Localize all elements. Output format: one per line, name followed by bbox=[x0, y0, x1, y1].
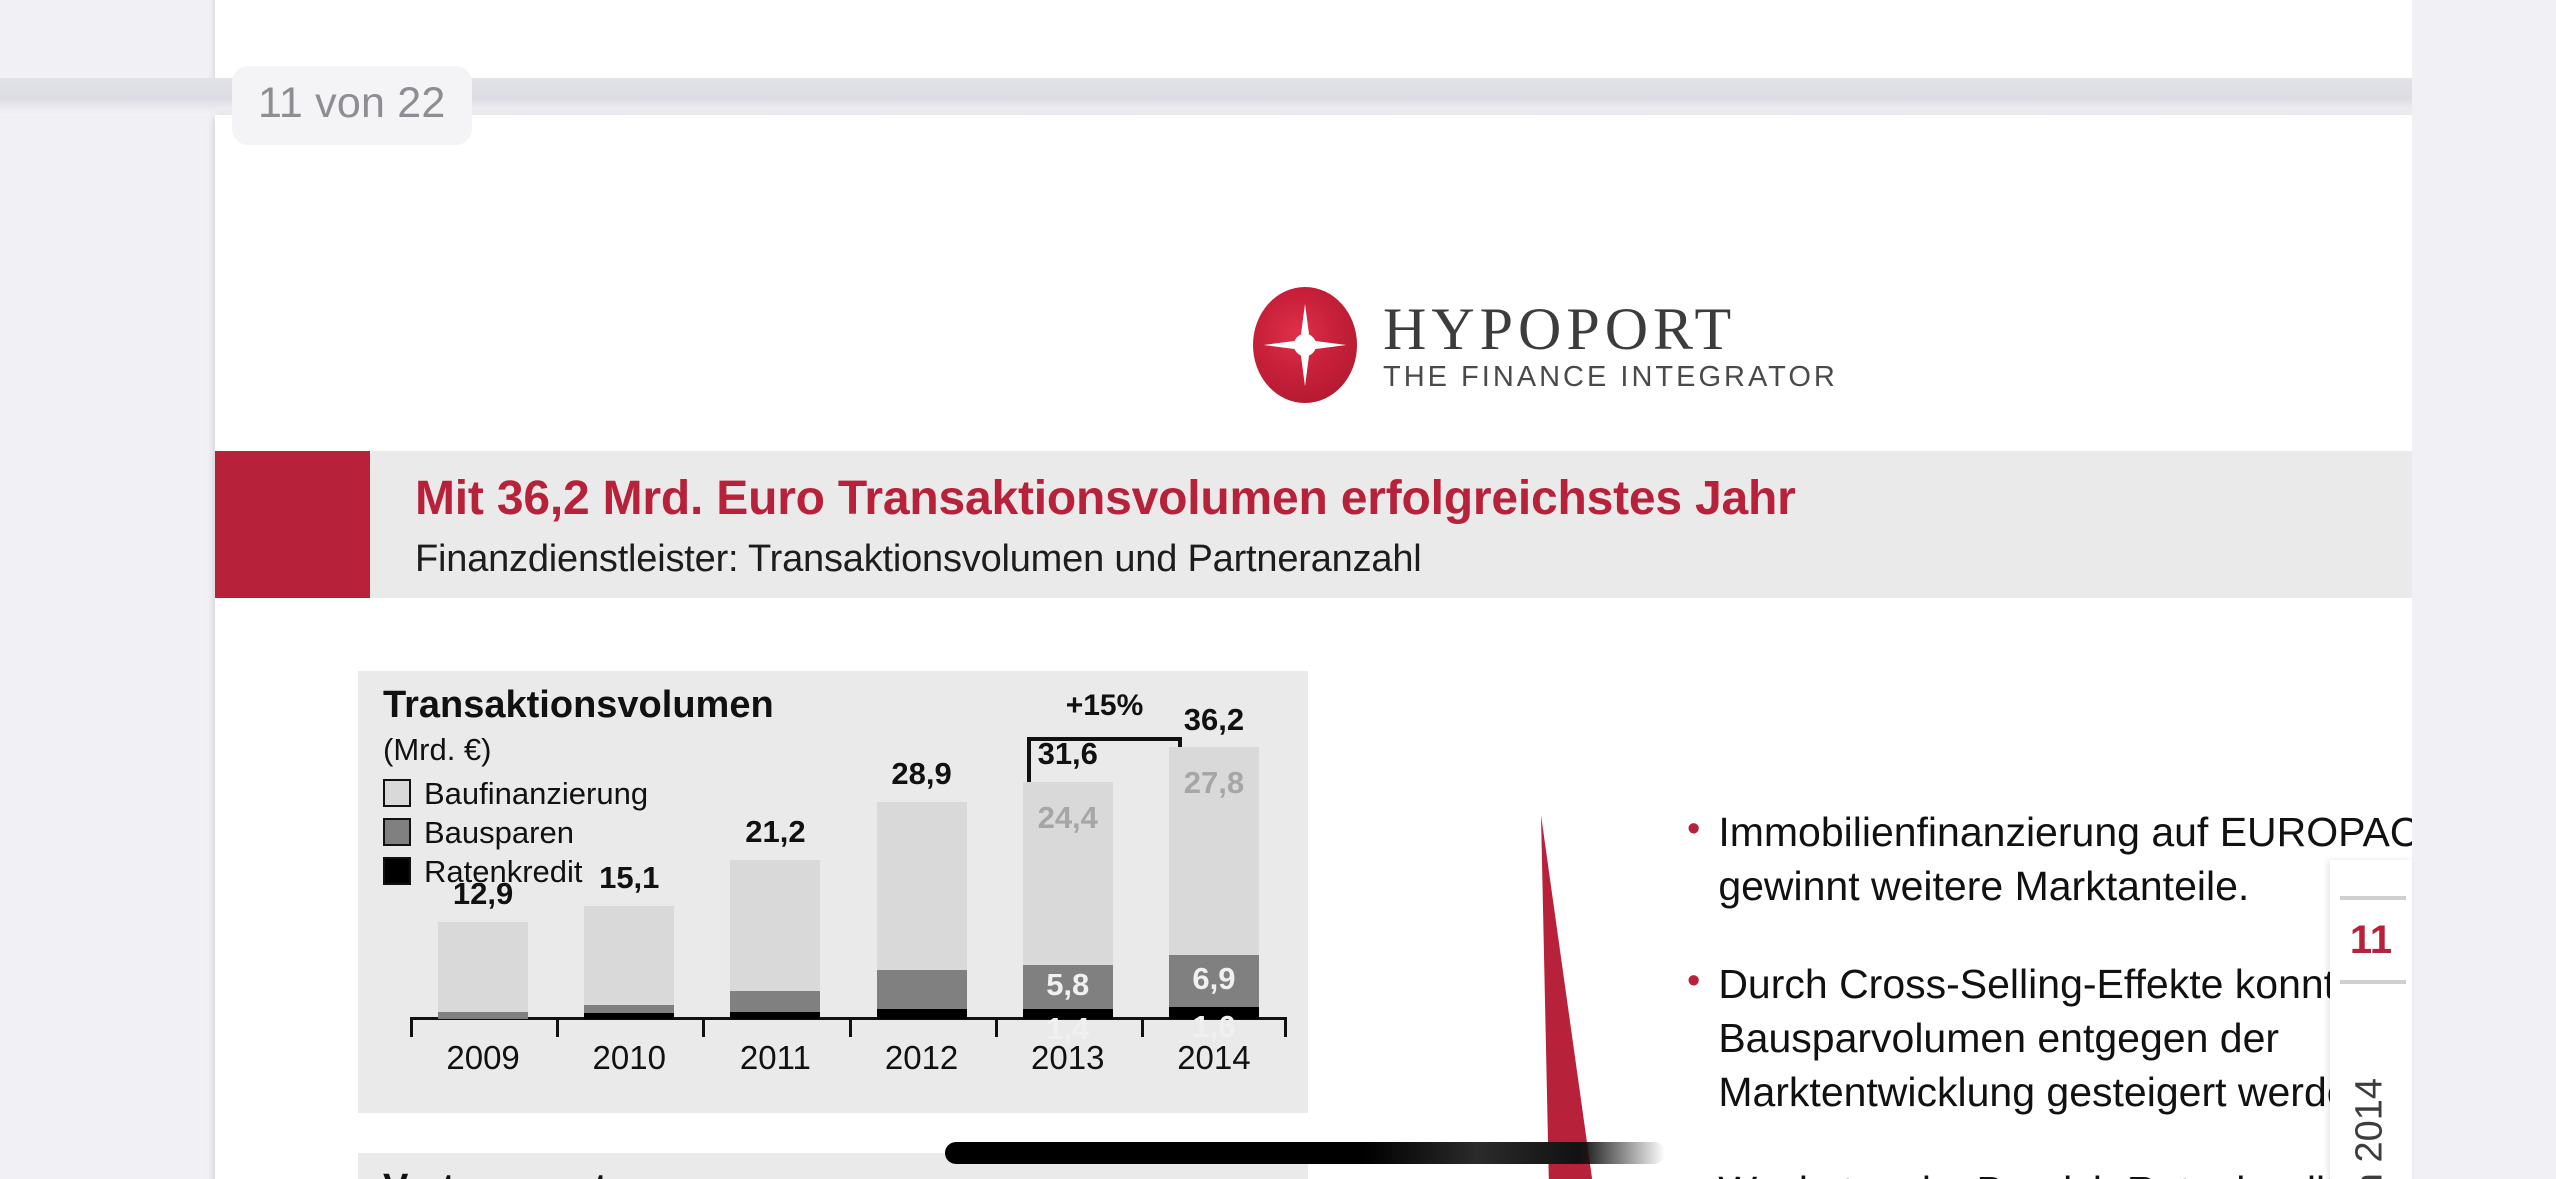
document-viewer[interactable]: 11 von 22 bbox=[0, 0, 2556, 1179]
chart-bar-segment bbox=[584, 1005, 674, 1013]
slide-title-band: Mit 36,2 Mrd. Euro Transaktionsvolumen e… bbox=[215, 451, 2412, 598]
x-axis-label: 2010 bbox=[574, 1039, 684, 1077]
chart-bar-segment: 24,4 bbox=[1023, 782, 1113, 965]
chart-segment-label: 6,9 bbox=[1169, 961, 1259, 997]
chart-bar bbox=[877, 802, 967, 1019]
chart-bar-segment bbox=[877, 1009, 967, 1019]
title-accent-block bbox=[215, 451, 370, 598]
chart-bar-segment bbox=[438, 1012, 528, 1020]
page-indicator-badge: 11 von 22 bbox=[232, 66, 472, 145]
bullet-text: Wachstum im Bereich Ratenkredit durch Ma… bbox=[1718, 1164, 2412, 1179]
growth-annotation-label: +15% bbox=[1027, 689, 1182, 723]
transaktionsvolumen-chart: Transaktionsvolumen (Mrd. €) Baufinanzie… bbox=[358, 671, 1308, 1113]
bullet-text: Immobilienfinanzierung auf EUROPACE gewi… bbox=[1718, 805, 2412, 913]
chart-bar: 24,45,81,4 bbox=[1023, 782, 1113, 1019]
x-axis-tick bbox=[1141, 1019, 1144, 1037]
hypoport-logo: HYPOPORT THE FINANCE INTEGRATOR bbox=[1253, 287, 1838, 403]
chart-plot-area: +15% 12,9200915,1201021,2201128,9201224,… bbox=[410, 689, 1287, 1077]
chart-total-label: 15,1 bbox=[584, 860, 674, 896]
chart-bar-segment: 1,4 bbox=[1023, 1009, 1113, 1020]
hypoport-starburst-logo-icon bbox=[1253, 287, 1357, 403]
sidebar-rail[interactable]: 11 zahlen 2014 bbox=[2412, 0, 2556, 1179]
legend-swatch-icon bbox=[383, 857, 411, 885]
chart-bar-segment bbox=[730, 1012, 820, 1020]
chart-bar: 27,86,91,6 bbox=[1169, 747, 1259, 1019]
x-axis-tick bbox=[556, 1019, 559, 1037]
bullet-marker-icon: • bbox=[1687, 957, 1700, 1119]
chart-bar-segment bbox=[877, 802, 967, 969]
logo-wordmark: HYPOPORT bbox=[1383, 299, 1838, 359]
x-axis-tick bbox=[702, 1019, 705, 1037]
chart-segment-label: 27,8 bbox=[1169, 765, 1259, 801]
x-axis-tick bbox=[410, 1019, 413, 1037]
page-subtitle: Finanzdienstleister: Transaktionsvolumen… bbox=[415, 539, 2412, 581]
x-axis-label: 2014 bbox=[1159, 1039, 1269, 1077]
x-axis-tick bbox=[995, 1019, 998, 1037]
bullet-item: •Immobilienfinanzierung auf EUROPACE gew… bbox=[1687, 805, 2412, 913]
previous-page bbox=[215, 0, 2412, 78]
chart-bar bbox=[438, 922, 528, 1019]
chart-total-label: 12,9 bbox=[438, 876, 528, 912]
chart-bar-segment bbox=[730, 860, 820, 991]
bullet-item: •Wachstum im Bereich Ratenkredit durch M… bbox=[1687, 1164, 2412, 1179]
x-axis-label: 2013 bbox=[1013, 1039, 1123, 1077]
chart-total-label: 36,2 bbox=[1169, 702, 1259, 738]
bullet-text: Durch Cross-Selling-Effekte konnte das B… bbox=[1718, 957, 2412, 1119]
bullet-item: •Durch Cross-Selling-Effekte konnte das … bbox=[1687, 957, 2412, 1119]
page-title: Mit 36,2 Mrd. Euro Transaktionsvolumen e… bbox=[415, 473, 2412, 525]
chart-bar-segment: 1,6 bbox=[1169, 1007, 1259, 1019]
chart-total-label: 31,6 bbox=[1023, 736, 1113, 772]
bullet-marker-icon: • bbox=[1687, 1164, 1700, 1179]
legend-swatch-icon bbox=[383, 818, 411, 846]
logo-tagline: THE FINANCE INTEGRATOR bbox=[1383, 363, 1838, 392]
x-axis-label: 2009 bbox=[428, 1039, 538, 1077]
legend-swatch-icon bbox=[383, 779, 411, 807]
chart-bar-segment bbox=[730, 991, 820, 1012]
chart-segment-label: 5,8 bbox=[1023, 967, 1113, 1003]
bullet-list: •Immobilienfinanzierung auf EUROPACE gew… bbox=[1687, 805, 2412, 1179]
chart-bar-segment: 6,9 bbox=[1169, 955, 1259, 1007]
sidebar-vertical-label: zahlen 2014 bbox=[2349, 860, 2392, 1179]
chart-bar-segment bbox=[877, 970, 967, 1010]
chart-bar bbox=[584, 906, 674, 1019]
bullet-marker-icon: • bbox=[1687, 805, 1700, 913]
chart-bar-segment bbox=[438, 922, 528, 1011]
chart-bar-segment bbox=[584, 906, 674, 1005]
chart-bar-segment: 27,8 bbox=[1169, 747, 1259, 956]
chart-bar-segment bbox=[584, 1013, 674, 1019]
chart-bar bbox=[730, 860, 820, 1019]
chart-total-label: 28,9 bbox=[877, 756, 967, 792]
chart-total-label: 21,2 bbox=[730, 814, 820, 850]
vertragspartner-title: Vertragspartner bbox=[383, 1167, 666, 1179]
annotation-marker-line bbox=[945, 1142, 1665, 1164]
red-wedge-decoration bbox=[1515, 815, 1655, 1179]
sidebar-page-tab[interactable]: 11 zahlen 2014 bbox=[2330, 860, 2412, 1179]
x-axis-tick bbox=[1284, 1019, 1287, 1037]
chart-segment-label: 24,4 bbox=[1023, 800, 1113, 836]
x-axis-label: 2012 bbox=[867, 1039, 977, 1077]
chart-bar-segment: 5,8 bbox=[1023, 965, 1113, 1009]
slide-page[interactable]: HYPOPORT THE FINANCE INTEGRATOR Mit 36,2… bbox=[215, 115, 2412, 1179]
x-axis-tick bbox=[849, 1019, 852, 1037]
x-axis-label: 2011 bbox=[720, 1039, 830, 1077]
